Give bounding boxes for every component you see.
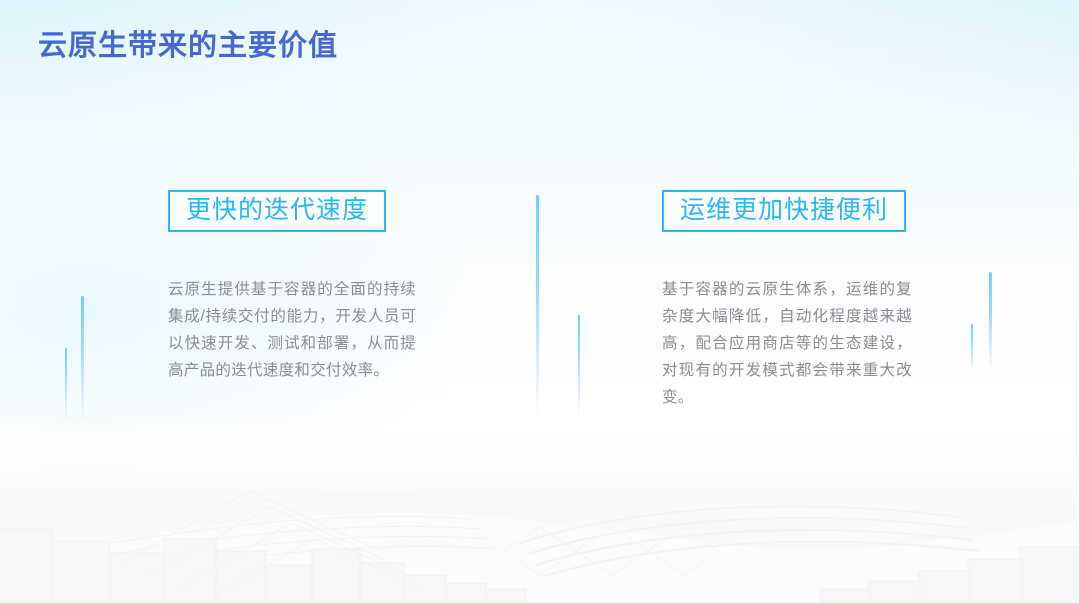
background-landscape-graphic [0,423,1080,603]
accent-bar-left-tall [81,296,84,420]
column-2-heading: 运维更加快捷便利 [680,197,888,223]
accent-bar-mid-short [578,315,580,417]
column-1-body: 云原生提供基于容器的全面的持续集成/持续交付的能力，开发人员可以快速开发、测试和… [168,276,416,384]
column-2-heading-box: 运维更加快捷便利 [662,190,906,232]
slide-canvas: 云原生带来的主要价值 更快的迭代速度 云原生提供基于容器的全面的持续集成/持续交… [0,0,1080,604]
accent-bar-right-tall [989,272,992,372]
page-title: 云原生带来的主要价值 [38,22,338,64]
column-2-body: 基于容器的云原生体系，运维的复杂度大幅降低，自动化程度越来越高，配合应用商店等的… [662,276,912,411]
diamond-grid-right [504,503,720,575]
lattice-left [120,491,420,595]
column-1-heading: 更快的迭代速度 [186,197,368,223]
accent-bar-mid-tall [536,195,539,417]
value-column-1: 更快的迭代速度 云原生提供基于容器的全面的持续集成/持续交付的能力，开发人员可以… [168,190,418,384]
accent-bar-left-short [65,348,67,420]
block-cluster-left [0,529,526,603]
column-1-heading-box: 更快的迭代速度 [168,190,386,232]
background-wash [0,0,1080,604]
landscape-svg [0,423,1080,603]
ridge-mid [0,513,1080,603]
value-column-2: 运维更加快捷便利 基于容器的云原生体系，运维的复杂度大幅降低，自动化程度越来越高… [662,190,912,411]
accent-bar-right-short [971,324,973,372]
ridge-far [0,493,1080,603]
block-cluster-right [820,547,1080,603]
terrace-right [520,506,978,576]
